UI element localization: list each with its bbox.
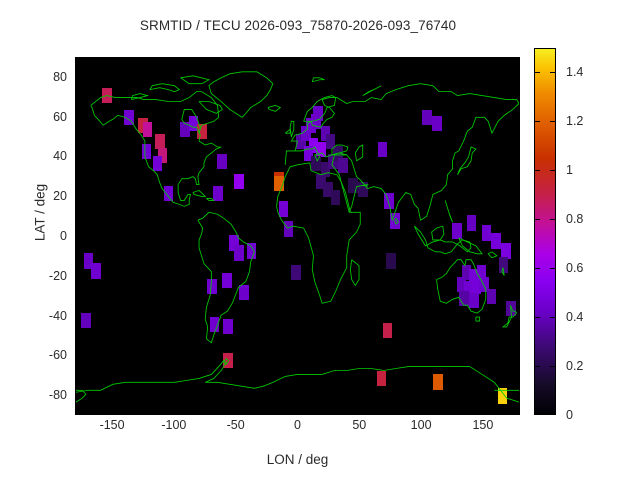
y-tick-label: 40	[53, 149, 67, 163]
colorbar-tick-mark	[535, 219, 540, 220]
colorbar-tick-label: 1.4	[566, 65, 583, 79]
colorbar-tick-mark	[550, 366, 555, 367]
x-tick-mark	[112, 410, 113, 415]
x-tick-mark	[174, 410, 175, 415]
data-marker	[153, 156, 163, 171]
colorbar-tick-label: 0.8	[566, 212, 583, 226]
data-marker	[197, 124, 207, 139]
x-tick-mark	[421, 410, 422, 415]
data-marker	[452, 223, 462, 238]
colorbar-gradient	[535, 49, 555, 414]
x-tick-label: 100	[411, 418, 432, 432]
colorbar-tick-mark	[535, 72, 540, 73]
colorbar-tick-mark	[535, 317, 540, 318]
data-marker	[217, 154, 227, 169]
data-marker	[432, 116, 442, 131]
x-tick-mark	[236, 410, 237, 415]
y-tick-mark	[75, 316, 80, 317]
data-marker	[207, 279, 217, 294]
colorbar-tick-mark	[535, 121, 540, 122]
colorbar-tick-label: 0	[566, 408, 573, 422]
x-tick-mark	[359, 410, 360, 415]
data-marker	[377, 371, 387, 386]
data-marker	[506, 301, 516, 316]
y-tick-label: -20	[49, 269, 67, 283]
map-plot-area[interactable]	[75, 57, 520, 415]
y-tick-label: 80	[53, 70, 67, 84]
y-tick-label: -80	[49, 388, 67, 402]
data-marker	[313, 106, 323, 121]
y-tick-mark	[75, 276, 80, 277]
y-tick-mark	[75, 156, 80, 157]
data-marker	[81, 313, 91, 328]
y-tick-mark	[75, 117, 80, 118]
colorbar-tick-label: 0.2	[566, 359, 583, 373]
data-marker	[210, 317, 220, 332]
page-title: SRMTID / TECU 2026-093_75870-2026-093_76…	[0, 18, 596, 33]
data-marker	[223, 353, 233, 368]
y-tick-label: -60	[49, 348, 67, 362]
x-tick-label: 0	[294, 418, 301, 432]
colorbar[interactable]	[534, 48, 556, 415]
data-marker	[348, 178, 358, 193]
data-marker	[143, 122, 153, 137]
data-marker	[331, 190, 341, 205]
data-marker	[247, 243, 257, 258]
data-marker	[274, 176, 284, 191]
data-marker	[422, 110, 432, 125]
colorbar-tick-mark	[550, 72, 555, 73]
colorbar-tick-mark	[550, 268, 555, 269]
x-tick-label: 50	[352, 418, 366, 432]
data-marker	[142, 144, 152, 159]
colorbar-tick-label: 0.6	[566, 261, 583, 275]
data-marker	[284, 221, 294, 236]
data-marker	[91, 263, 101, 278]
y-tick-label: -40	[49, 309, 67, 323]
colorbar-tick-mark	[535, 170, 540, 171]
colorbar-tick-mark	[550, 317, 555, 318]
x-tick-label: -150	[100, 418, 125, 432]
data-marker	[223, 319, 233, 334]
data-marker	[459, 291, 469, 306]
data-marker	[383, 323, 393, 338]
data-marker	[338, 158, 348, 173]
y-tick-label: 0	[60, 229, 67, 243]
data-marker	[311, 156, 321, 171]
y-tick-label: 20	[53, 189, 67, 203]
colorbar-tick-mark	[550, 170, 555, 171]
data-marker	[487, 289, 497, 304]
data-marker	[222, 273, 232, 288]
colorbar-tick-mark	[550, 219, 555, 220]
data-marker	[164, 186, 174, 201]
colorbar-tick-label: 1.2	[566, 114, 583, 128]
colorbar-tick-label: 0.4	[566, 310, 583, 324]
x-tick-label: -50	[227, 418, 245, 432]
data-marker	[491, 233, 501, 248]
x-tick-label: -100	[161, 418, 186, 432]
x-tick-mark	[483, 410, 484, 415]
y-tick-mark	[75, 395, 80, 396]
data-marker	[213, 186, 223, 201]
y-tick-mark	[75, 196, 80, 197]
data-marker	[499, 257, 509, 272]
x-tick-label: 150	[472, 418, 493, 432]
data-marker	[390, 213, 400, 228]
data-marker	[358, 182, 368, 197]
data-marker	[498, 388, 508, 403]
data-marker	[234, 174, 244, 189]
data-marker	[467, 215, 477, 230]
data-marker	[124, 110, 134, 125]
colorbar-tick-mark	[535, 366, 540, 367]
figure-canvas: SRMTID / TECU 2026-093_75870-2026-093_76…	[0, 0, 640, 480]
data-marker	[384, 193, 394, 208]
data-marker	[239, 285, 249, 300]
data-marker-layer	[76, 58, 519, 414]
y-tick-mark	[75, 355, 80, 356]
y-tick-mark	[75, 77, 80, 78]
colorbar-tick-mark	[550, 121, 555, 122]
data-marker	[102, 88, 112, 103]
colorbar-tick-label: 1	[566, 163, 573, 177]
x-axis-label: LON / deg	[75, 452, 520, 467]
data-marker	[469, 293, 479, 308]
y-tick-mark	[75, 236, 80, 237]
data-marker	[234, 245, 244, 260]
y-tick-label: 60	[53, 110, 67, 124]
data-marker	[482, 225, 492, 240]
data-marker	[433, 374, 443, 389]
data-marker	[291, 265, 301, 280]
data-marker	[279, 201, 289, 216]
colorbar-tick-mark	[535, 268, 540, 269]
y-axis-label: LAT / deg	[33, 153, 48, 273]
x-tick-mark	[298, 410, 299, 415]
data-marker	[378, 142, 388, 157]
data-marker	[386, 253, 396, 268]
